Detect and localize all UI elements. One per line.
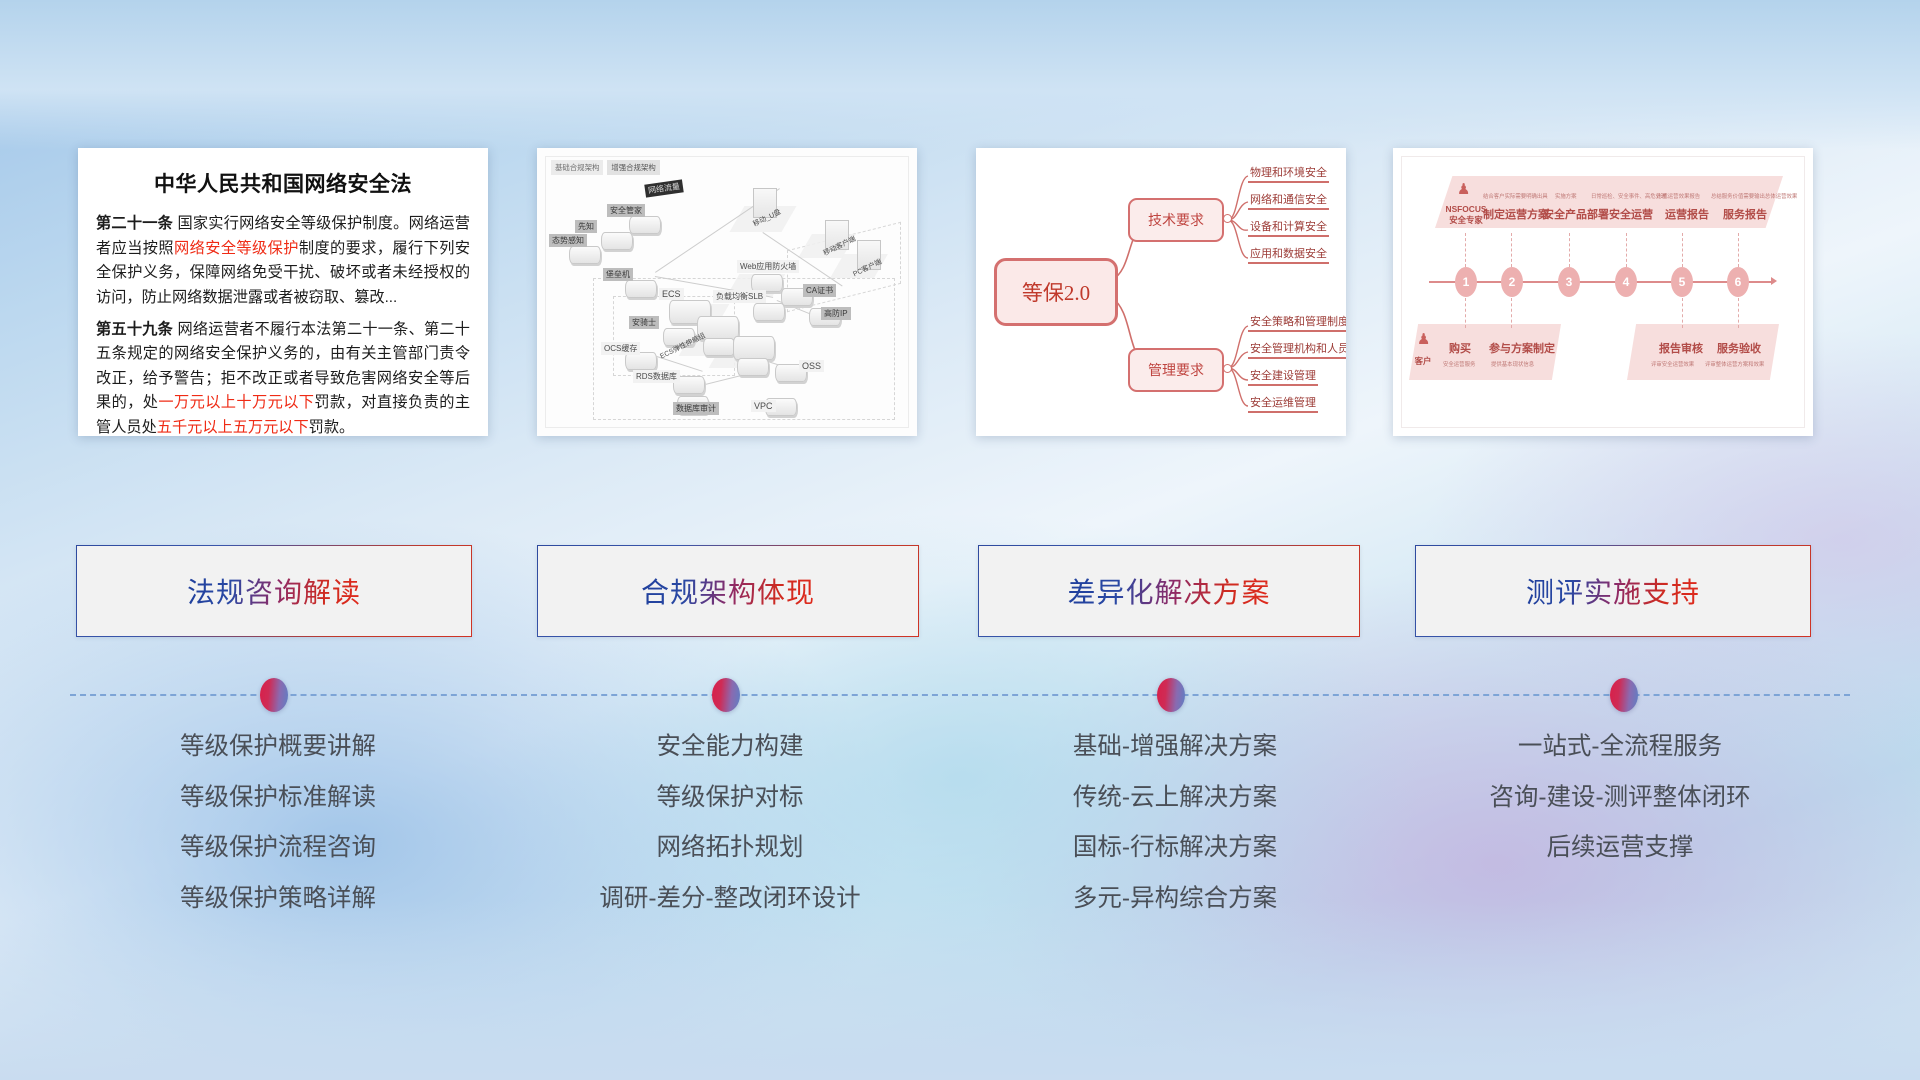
list-item[interactable]: 等级保护概要讲解	[78, 735, 478, 760]
detail-column-4: 一站式-全流程服务 咨询-建设-测评整体闭环 后续运营支撑	[1410, 735, 1830, 887]
arch-label-database-audit: 数据库审计	[673, 402, 719, 415]
flow-step-sub-6: 总结服务价值需要输出总体运营效果	[1711, 192, 1797, 200]
expert-icon: ♟	[1457, 180, 1470, 198]
flow-step-title-3[interactable]: 安全产品部署	[1543, 206, 1609, 222]
mindmap-leaf-org-personnel[interactable]: 安全管理机构和人员	[1248, 340, 1346, 359]
flow-step-sub-5: 形成运营效果报告	[1657, 192, 1700, 200]
card-cybersecurity-law[interactable]: 中华人民共和国网络安全法 第二十一条 国家实行网络安全等级保护制度。网络运营者应…	[78, 148, 488, 436]
list-item[interactable]: 咨询-建设-测评整体闭环	[1410, 786, 1830, 811]
arch-label-bastion-host: 堡垒机	[603, 268, 633, 281]
law-highlight-21: 网络安全等级保护	[174, 240, 299, 257]
list-item[interactable]: 等级保护策略详解	[78, 887, 478, 912]
section-header-row: 法规咨询解读 合规架构体现 差异化解决方案 测评实施支持	[0, 545, 1920, 641]
flow-step-sub-3: 实施方案	[1555, 192, 1577, 200]
arch-label-ocs-cache: OCS缓存	[601, 342, 640, 355]
flow-step-circle-1[interactable]: 1	[1455, 267, 1477, 297]
flow-step-circle-3[interactable]: 3	[1558, 267, 1580, 297]
mindmap-root-node[interactable]: 等保2.0	[994, 258, 1118, 326]
flow-cust-sub-2: 提供基本现状信息	[1491, 360, 1534, 368]
arch-label-waf: Web应用防火墙	[737, 260, 799, 273]
flow-step-title-2[interactable]: 制定运营方案	[1483, 206, 1549, 222]
arch-label-slb: 负载均衡SLB	[713, 290, 766, 303]
header-box-differentiated-solution[interactable]: 差异化解决方案	[978, 545, 1360, 637]
arch-label-xianzhi: 先知	[575, 220, 597, 233]
header-label-1: 法规咨询解读	[187, 571, 361, 611]
customer-icon: ♟	[1417, 330, 1430, 348]
law-article-label-59: 第五十九条	[96, 321, 173, 338]
law-document: 中华人民共和国网络安全法 第二十一条 国家实行网络安全等级保护制度。网络运营者应…	[78, 148, 488, 436]
detail-column-row: 等级保护概要讲解 等级保护标准解读 等级保护流程咨询 等级保护策略详解 安全能力…	[0, 735, 1920, 975]
flow-cust-sub-6: 评审整体运营方案和效果	[1705, 360, 1764, 368]
law-title: 中华人民共和国网络安全法	[96, 168, 470, 198]
detail-column-1: 等级保护概要讲解 等级保护标准解读 等级保护流程咨询 等级保护策略详解	[78, 735, 478, 937]
flow-step-circle-6[interactable]: 6	[1727, 267, 1749, 297]
flow-cust-title-5[interactable]: 报告审核	[1659, 340, 1703, 356]
header-box-compliance-architecture[interactable]: 合规架构体现	[537, 545, 919, 637]
flow-step-circle-2[interactable]: 2	[1501, 267, 1523, 297]
flow-step-title-4[interactable]: 安全运营	[1609, 206, 1653, 222]
flow-step-circle-5[interactable]: 5	[1671, 267, 1693, 297]
mindmap: 等保2.0 技术要求 管理要求 物理和环境安全 网络和通信安全 设备和计算安全 …	[976, 148, 1346, 436]
arch-label-anqishi: 安骑士	[629, 316, 659, 329]
list-item[interactable]: 多元-异构综合方案	[975, 887, 1375, 912]
mindmap-branch-technical[interactable]: 技术要求	[1128, 198, 1224, 242]
tab-basic-architecture[interactable]: 基础合规架构	[551, 160, 603, 175]
list-item[interactable]: 传统-云上解决方案	[975, 786, 1375, 811]
card-service-process-flow[interactable]: ♟ NSFOCUS 安全专家 制定运营方案 结合客户实际需要明确出具 安全产品部…	[1393, 148, 1813, 436]
flow-step-circle-4[interactable]: 4	[1615, 267, 1637, 297]
flow-arrow-icon	[1771, 277, 1777, 285]
list-item[interactable]: 调研-差分-整改闭环设计	[530, 887, 930, 912]
mindmap-leaf-device-compute[interactable]: 设备和计算安全	[1248, 218, 1329, 237]
header-box-assessment-support[interactable]: 测评实施支持	[1415, 545, 1811, 637]
flow-step-sub-4: 日常巡检、安全事件、高危处理	[1591, 192, 1666, 200]
header-box-regulation-consulting[interactable]: 法规咨询解读	[76, 545, 472, 637]
mindmap-leaf-policy-system[interactable]: 安全策略和管理制度	[1248, 313, 1346, 332]
law-highlight-59a: 一万元以上十万元以下	[158, 394, 314, 411]
timeline-node-2[interactable]	[712, 678, 740, 712]
list-item[interactable]: 基础-增强解决方案	[975, 735, 1375, 760]
mindmap-collapse-dot-technical[interactable]	[1223, 214, 1232, 223]
tab-enhanced-architecture[interactable]: 增强合规架构	[607, 160, 659, 175]
header-label-4: 测评实施支持	[1526, 571, 1700, 611]
list-item[interactable]: 国标-行标解决方案	[975, 836, 1375, 861]
timeline-node-3[interactable]	[1157, 678, 1185, 712]
card-mindmap-dengbao[interactable]: 等保2.0 技术要求 管理要求 物理和环境安全 网络和通信安全 设备和计算安全 …	[976, 148, 1346, 436]
mindmap-leaf-construction-mgmt[interactable]: 安全建设管理	[1248, 367, 1318, 386]
mindmap-leaf-ops-mgmt[interactable]: 安全运维管理	[1248, 394, 1318, 413]
list-item[interactable]: 后续运营支撑	[1410, 836, 1830, 861]
header-label-2: 合规架构体现	[641, 571, 815, 611]
detail-column-3: 基础-增强解决方案 传统-云上解决方案 国标-行标解决方案 多元-异构综合方案	[975, 735, 1375, 937]
flow-step-title-5[interactable]: 运营报告	[1665, 206, 1709, 222]
law-text-59c: 罚款。	[309, 419, 355, 436]
flow-cust-title-2[interactable]: 参与方案制定	[1489, 340, 1555, 356]
list-item[interactable]: 网络拓扑规划	[530, 836, 930, 861]
arch-label-vpc: VPC	[751, 400, 776, 412]
flow-cust-sub-1: 安全运营服务	[1443, 360, 1475, 368]
flow-cust-title-6[interactable]: 服务验收	[1717, 340, 1761, 356]
arch-label-situation-awareness: 态势感知	[549, 234, 587, 247]
arch-label-anti-ddos-ip: 高防IP	[821, 307, 851, 320]
arch-label-rds-database: RDS数据库	[633, 370, 680, 383]
architecture-diagram: 基础合规架构 增强合规架构	[537, 148, 917, 436]
law-highlight-59b: 五千元以上五万元以下	[157, 419, 309, 436]
card-cloud-architecture[interactable]: 基础合规架构 增强合规架构	[537, 148, 917, 436]
detail-column-2: 安全能力构建 等级保护对标 网络拓扑规划 调研-差分-整改闭环设计	[530, 735, 930, 937]
mindmap-leaf-physical-env[interactable]: 物理和环境安全	[1248, 164, 1329, 183]
timeline-dashed-line	[70, 694, 1850, 698]
law-article-label-21: 第二十一条	[96, 215, 173, 232]
flow-step-title-6[interactable]: 服务报告	[1723, 206, 1767, 222]
list-item[interactable]: 一站式-全流程服务	[1410, 735, 1830, 760]
header-label-3: 差异化解决方案	[1067, 571, 1270, 611]
list-item[interactable]: 等级保护流程咨询	[78, 836, 478, 861]
flow-actor-customer: 客户	[1409, 356, 1437, 367]
list-item[interactable]: 等级保护标准解读	[78, 786, 478, 811]
law-paragraph-21: 第二十一条 国家实行网络安全等级保护制度。网络运营者应当按照网络安全等级保护制度…	[96, 212, 470, 311]
process-flow-diagram: ♟ NSFOCUS 安全专家 制定运营方案 结合客户实际需要明确出具 安全产品部…	[1393, 148, 1813, 436]
timeline-node-1[interactable]	[260, 678, 288, 712]
list-item[interactable]: 等级保护对标	[530, 786, 930, 811]
flow-cust-title-1[interactable]: 购买	[1449, 340, 1471, 356]
architecture-tabs[interactable]: 基础合规架构 增强合规架构	[551, 160, 660, 175]
flow-axis	[1429, 281, 1774, 283]
timeline-node-4[interactable]	[1610, 678, 1638, 712]
list-item[interactable]: 安全能力构建	[530, 735, 930, 760]
arch-label-ca-certificate: CA证书	[803, 284, 836, 297]
mindmap-leaf-app-data[interactable]: 应用和数据安全	[1248, 245, 1329, 264]
flow-cust-sub-5: 评审安全运营效果	[1651, 360, 1694, 368]
arch-label-security-housekeeper: 安全管家	[607, 204, 645, 217]
illustration-card-row: 中华人民共和国网络安全法 第二十一条 国家实行网络安全等级保护制度。网络运营者应…	[0, 148, 1920, 438]
mindmap-branch-management[interactable]: 管理要求	[1128, 348, 1224, 392]
arch-label-ecs: ECS	[659, 288, 684, 300]
arch-label-oss: OSS	[799, 360, 824, 372]
flow-step-sub-2: 结合客户实际需要明确出具	[1483, 192, 1548, 200]
law-paragraph-59: 第五十九条 网络运营者不履行本法第二十一条、第二十五条规定的网络安全保护义务的，…	[96, 318, 470, 437]
mindmap-collapse-dot-management[interactable]	[1223, 364, 1232, 373]
mindmap-leaf-network-comm[interactable]: 网络和通信安全	[1248, 191, 1329, 210]
